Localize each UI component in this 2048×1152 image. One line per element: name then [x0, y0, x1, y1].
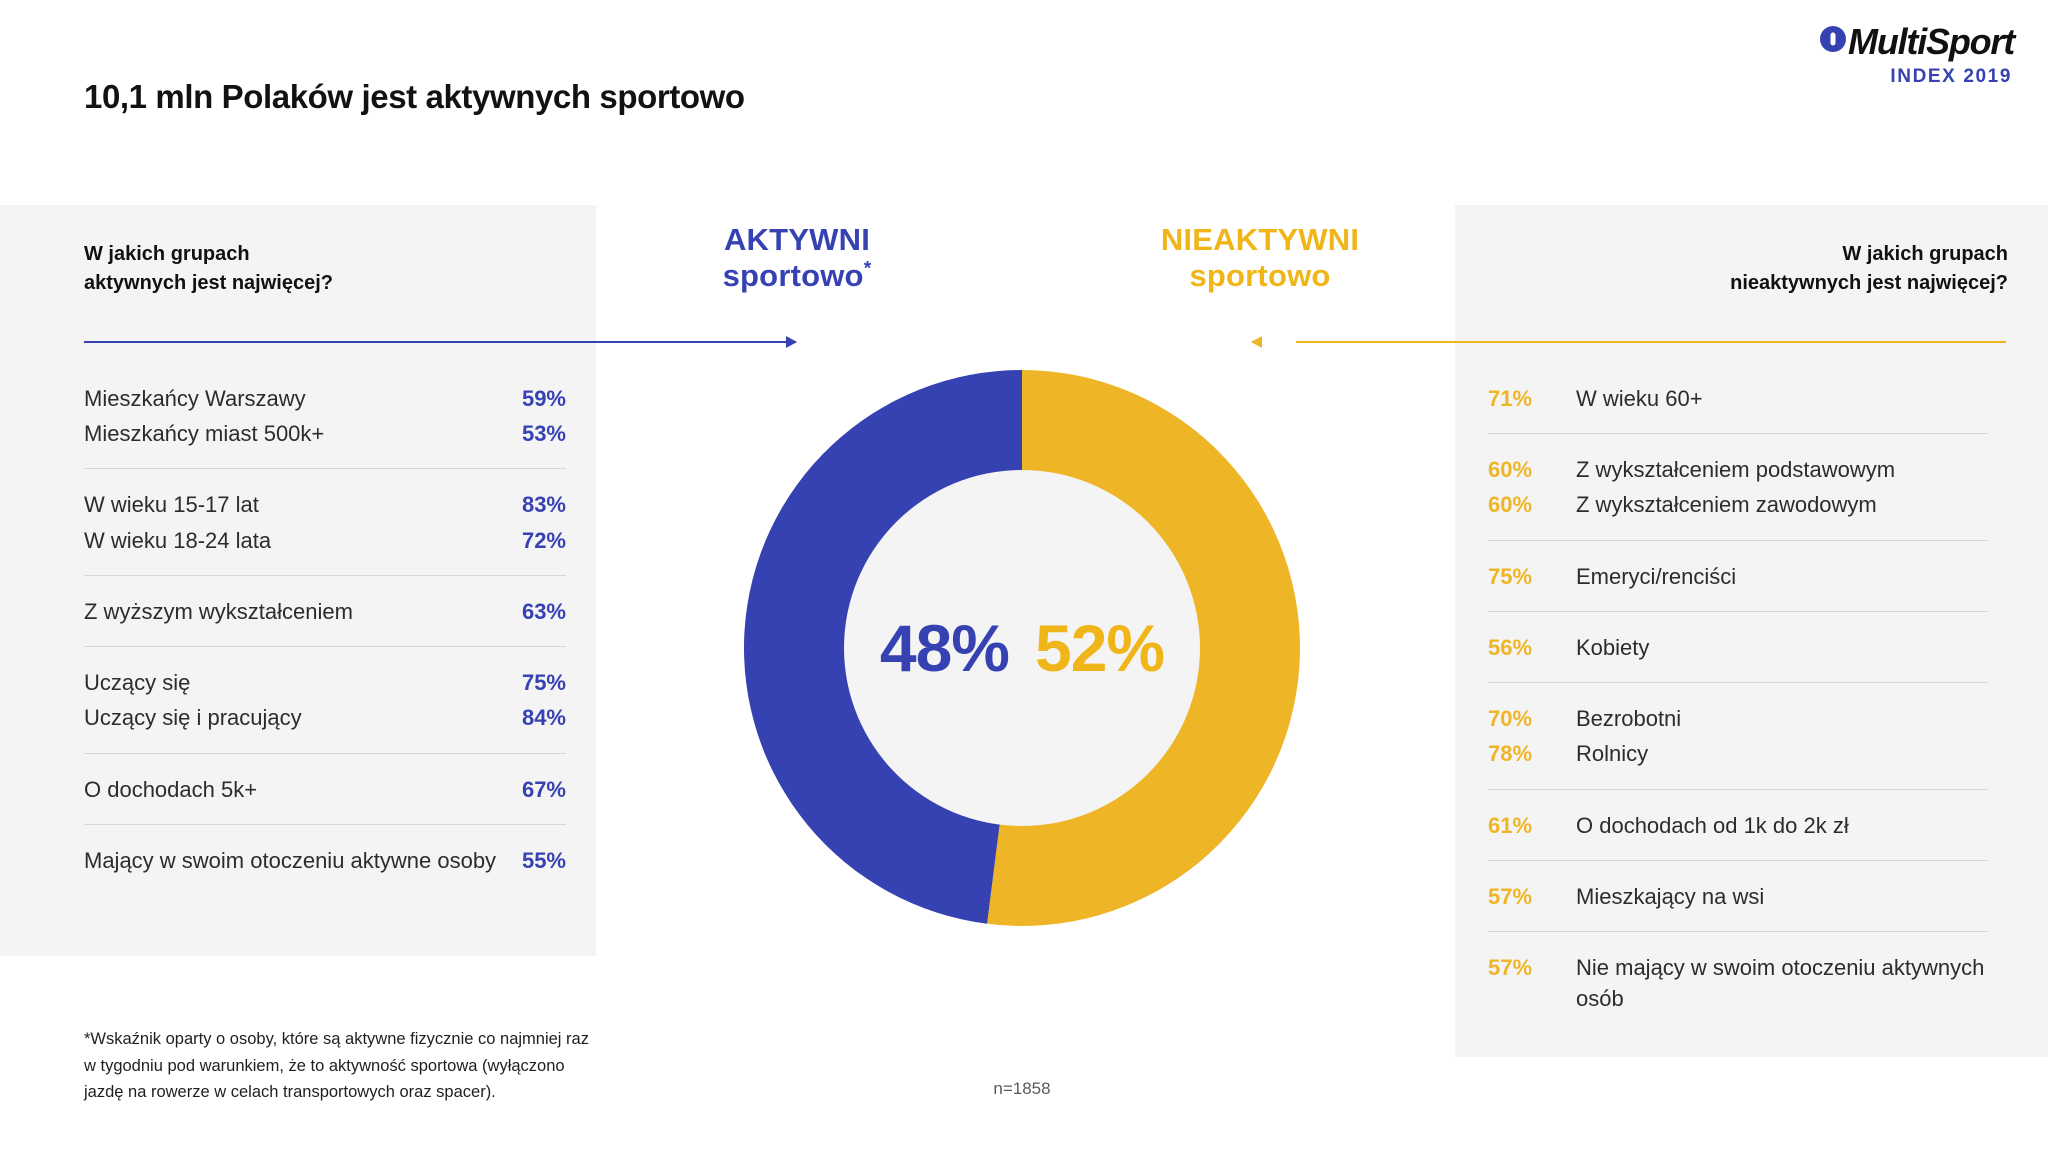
inactive-chart-legend: NIEAKTYWNI sportowo [1120, 222, 1400, 295]
footnote-text: *Wskaźnik oparty o osoby, które są aktyw… [84, 1026, 596, 1106]
stat-label: Mający w swoim otoczeniu aktywne osoby [84, 845, 496, 876]
active-connector-line [84, 341, 796, 343]
stat-value: 72% [522, 525, 566, 556]
stat-row: O dochodach 5k+67% [84, 772, 566, 807]
stat-value: 59% [522, 383, 566, 414]
stat-value: 55% [522, 845, 566, 876]
stat-value: 67% [522, 774, 566, 805]
stat-group: 56%Kobiety [1488, 611, 1988, 682]
stat-label: W wieku 60+ [1576, 383, 1988, 414]
stat-row: 70%Bezrobotni [1488, 701, 1988, 736]
inactive-legend-line2: sportowo [1120, 258, 1400, 294]
inactive-heading-line1: W jakich grupach [1730, 240, 2008, 269]
stat-value: 75% [522, 667, 566, 698]
stat-value: 53% [522, 418, 566, 449]
stat-value: 70% [1488, 703, 1576, 734]
circle-dot-icon [1820, 26, 1846, 52]
page-title: 10,1 mln Polaków jest aktywnych sportowo [84, 78, 745, 116]
stat-value: 60% [1488, 454, 1576, 485]
stat-row: Mający w swoim otoczeniu aktywne osoby55… [84, 843, 566, 878]
footnote-marker: * [864, 259, 872, 280]
brand-logo: MultiSport INDEX 2019 [1820, 24, 2014, 86]
stat-group: W wieku 15-17 lat83%W wieku 18-24 lata72… [84, 468, 566, 574]
stat-value: 71% [1488, 383, 1576, 414]
stat-row: Z wyższym wykształceniem63% [84, 594, 566, 629]
arrow-right-icon [786, 336, 797, 348]
active-heading-line2: aktywnych jest najwięcej? [84, 269, 333, 298]
active-legend-line2: sportowo [723, 258, 864, 293]
stat-group: O dochodach 5k+67% [84, 753, 566, 824]
stat-row: 75%Emeryci/renciści [1488, 559, 1988, 594]
stat-group: 70%Bezrobotni78%Rolnicy [1488, 682, 1988, 788]
stat-value: 57% [1488, 881, 1576, 912]
stat-row: W wieku 15-17 lat83% [84, 487, 566, 522]
stat-label: Uczący się [84, 667, 190, 698]
stat-group: Mieszkańcy Warszawy59%Mieszkańcy miast 5… [84, 363, 566, 468]
stat-label: Bezrobotni [1576, 703, 1988, 734]
logo-row: MultiSport [1820, 24, 2014, 60]
stat-value: 63% [522, 596, 566, 627]
brand-name: MultiSport [1848, 24, 2014, 60]
active-heading-line1: W jakich grupach [84, 240, 333, 269]
stat-label: Z wykształceniem zawodowym [1576, 489, 1988, 520]
stat-group: 57%Nie mający w swoim otoczeniu aktywnyc… [1488, 931, 1988, 1033]
stat-label: Z wykształceniem podstawowym [1576, 454, 1988, 485]
stat-label: Mieszkający na wsi [1576, 881, 1988, 912]
stat-group: Mający w swoim otoczeniu aktywne osoby55… [84, 824, 566, 895]
stat-group: 60%Z wykształceniem podstawowym60%Z wyks… [1488, 433, 1988, 539]
stat-label: Kobiety [1576, 632, 1988, 663]
brand-subtitle: INDEX 2019 [1820, 67, 2012, 86]
stat-row: W wieku 18-24 lata72% [84, 523, 566, 558]
stat-group: Z wyższym wykształceniem63% [84, 575, 566, 646]
stat-value: 84% [522, 702, 566, 733]
stat-row: 57%Mieszkający na wsi [1488, 879, 1988, 914]
stat-label: Z wyższym wykształceniem [84, 596, 353, 627]
stat-value: 57% [1488, 952, 1576, 983]
stat-value: 83% [522, 489, 566, 520]
active-percent-value: 48% [880, 615, 1009, 681]
stat-group: Uczący się75%Uczący się i pracujący84% [84, 646, 566, 752]
stat-group: 61%O dochodach od 1k do 2k zł [1488, 789, 1988, 860]
active-chart-legend: AKTYWNI sportowo* [662, 222, 932, 295]
stat-label: W wieku 18-24 lata [84, 525, 271, 556]
inactive-connector-line [1296, 341, 2006, 343]
stat-label: O dochodach od 1k do 2k zł [1576, 810, 1988, 841]
active-panel-heading: W jakich grupach aktywnych jest najwięce… [84, 240, 333, 298]
stat-row: 57%Nie mający w swoim otoczeniu aktywnyc… [1488, 950, 1988, 1016]
stat-row: Uczący się75% [84, 665, 566, 700]
stat-label: Mieszkańcy Warszawy [84, 383, 306, 414]
active-legend-line1: AKTYWNI [662, 222, 932, 258]
inactive-panel-heading: W jakich grupach nieaktywnych jest najwi… [1730, 240, 2008, 298]
inactive-stat-list: 71%W wieku 60+60%Z wykształceniem podsta… [1488, 363, 1988, 1034]
stat-row: 71%W wieku 60+ [1488, 381, 1988, 416]
arrow-left-icon [1251, 336, 1262, 348]
stat-value: 75% [1488, 561, 1576, 592]
inactive-heading-line2: nieaktywnych jest najwięcej? [1730, 269, 2008, 298]
stat-row: 60%Z wykształceniem podstawowym [1488, 452, 1988, 487]
stat-value: 56% [1488, 632, 1576, 663]
stat-label: Rolnicy [1576, 738, 1988, 769]
stat-value: 78% [1488, 738, 1576, 769]
stat-label: Emeryci/renciści [1576, 561, 1988, 592]
stat-value: 60% [1488, 489, 1576, 520]
stat-row: Mieszkańcy miast 500k+53% [84, 416, 566, 451]
donut-chart: 48% 52% [742, 368, 1302, 928]
donut-center-labels: 48% 52% [742, 368, 1302, 928]
stat-group: 75%Emeryci/renciści [1488, 540, 1988, 611]
inactive-legend-line1: NIEAKTYWNI [1120, 222, 1400, 258]
stat-row: 60%Z wykształceniem zawodowym [1488, 487, 1988, 522]
stat-group: 57%Mieszkający na wsi [1488, 860, 1988, 931]
stat-row: Mieszkańcy Warszawy59% [84, 381, 566, 416]
stat-label: Mieszkańcy miast 500k+ [84, 418, 324, 449]
sample-size-label: n=1858 [742, 1079, 1302, 1099]
stat-group: 71%W wieku 60+ [1488, 363, 1988, 433]
active-legend-line2-wrap: sportowo* [662, 258, 932, 294]
stat-row: Uczący się i pracujący84% [84, 700, 566, 735]
stat-label: Nie mający w swoim otoczeniu aktywnych o… [1576, 952, 1988, 1014]
stat-label: Uczący się i pracujący [84, 702, 302, 733]
stat-value: 61% [1488, 810, 1576, 841]
stat-row: 78%Rolnicy [1488, 736, 1988, 771]
active-stat-list: Mieszkańcy Warszawy59%Mieszkańcy miast 5… [84, 363, 566, 895]
inactive-percent-value: 52% [1035, 615, 1164, 681]
stat-label: O dochodach 5k+ [84, 774, 257, 805]
stat-row: 61%O dochodach od 1k do 2k zł [1488, 808, 1988, 843]
stat-row: 56%Kobiety [1488, 630, 1988, 665]
stat-label: W wieku 15-17 lat [84, 489, 259, 520]
